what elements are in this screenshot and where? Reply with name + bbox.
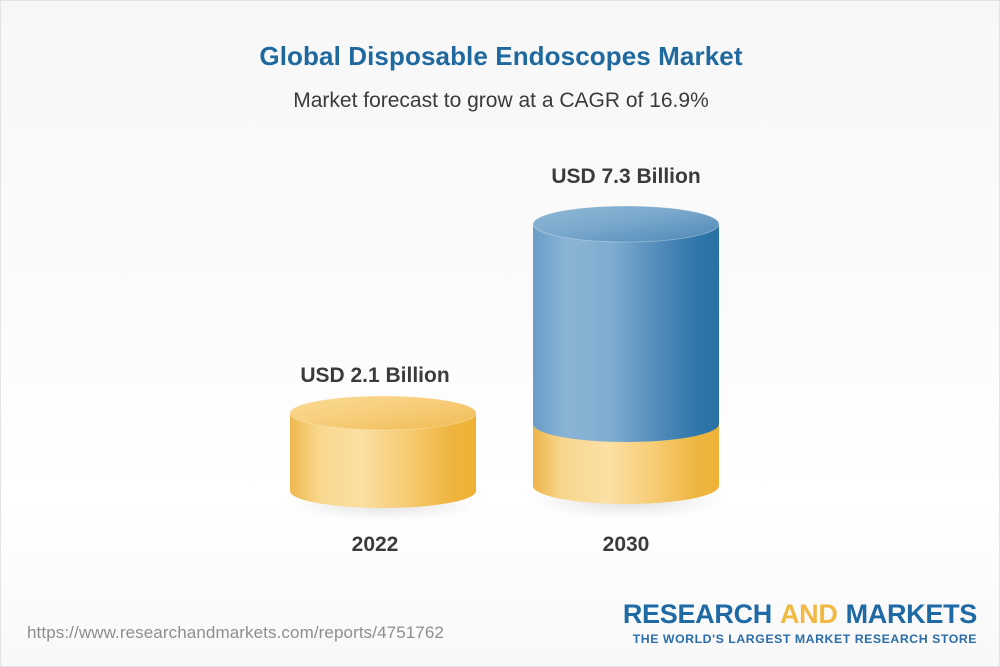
bar-cylinder-2022 [263, 383, 503, 538]
research-and-markets-logo[interactable]: RESEARCHANDMARKETS THE WORLD'S LARGEST M… [623, 601, 977, 645]
category-label-2022: 2022 [259, 533, 491, 557]
source-url[interactable]: https://www.researchandmarkets.com/repor… [27, 623, 444, 643]
page-title: Global Disposable Endoscopes Market [1, 41, 1000, 72]
chart-canvas: Global Disposable Endoscopes Market Mark… [0, 0, 1000, 667]
logo-word-and: AND [780, 599, 838, 629]
logo-word-markets: MARKETS [846, 599, 977, 629]
data-label-2030: USD 7.3 Billion [510, 165, 742, 189]
chart-subtitle: Market forecast to grow at a CAGR of 16.… [1, 89, 1000, 113]
logo-tagline: THE WORLD'S LARGEST MARKET RESEARCH STOR… [623, 633, 977, 645]
logo-word-research: RESEARCH [623, 599, 772, 629]
logo-wordmark: RESEARCHANDMARKETS [623, 601, 977, 628]
bar-cylinder-2030 [506, 191, 746, 536]
category-label-2030: 2030 [510, 533, 742, 557]
